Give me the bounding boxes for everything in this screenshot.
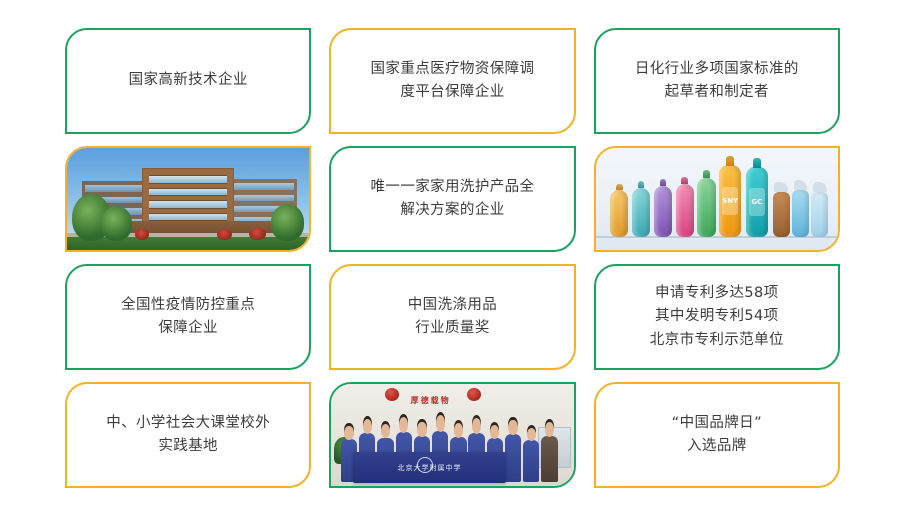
card-text: 中、小学社会大课堂校外 实践基地 xyxy=(96,408,280,463)
students-group-image: 厚德载物 北京大学附属中学 xyxy=(331,384,573,486)
card-text: 国家高新技术企业 xyxy=(119,65,258,96)
bottle-brand-label: GC xyxy=(749,188,765,216)
flower-bush xyxy=(135,229,150,240)
bottle-brand-label: SNY xyxy=(722,187,738,216)
spray-bottle xyxy=(792,190,809,237)
card-high-tech-enterprise[interactable]: 国家高新技术企业 xyxy=(65,28,311,134)
card-national-standards-drafter[interactable]: 日化行业多项国家标准的 起草者和制定者 xyxy=(594,28,840,134)
product-bottle xyxy=(632,188,650,237)
school-banner-text: 北京大学附属中学 xyxy=(353,452,506,483)
wall-banner-text: 厚德载物 xyxy=(394,395,467,406)
product-bottle-sny: SNY xyxy=(719,165,741,236)
product-bottle xyxy=(676,184,694,237)
card-detergent-quality-award[interactable]: 中国洗涤用品 行业质量奖 xyxy=(329,264,575,370)
product-bottle xyxy=(654,186,672,237)
tree xyxy=(271,204,305,241)
tree xyxy=(101,206,133,241)
product-bottles-image: SNY GC xyxy=(596,148,838,250)
product-bottle xyxy=(697,178,715,237)
card-medical-supply-platform[interactable]: 国家重点医疗物资保障调 度平台保障企业 xyxy=(329,28,575,134)
card-text: 唯一一家家用洗护产品全 解决方案的企业 xyxy=(361,172,545,227)
card-epidemic-prevention-key-enterprise[interactable]: 全国性疫情防控重点 保障企业 xyxy=(65,264,311,370)
credential-card-grid: 国家高新技术企业 国家重点医疗物资保障调 度平台保障企业 日化行业多项国家标准的… xyxy=(0,0,900,510)
flower-bush xyxy=(249,228,266,240)
card-full-solution-enterprise[interactable]: 唯一一家家用洗护产品全 解决方案的企业 xyxy=(329,146,575,252)
card-china-brand-day[interactable]: “中国品牌日” 入选品牌 xyxy=(594,382,840,488)
spray-bottle xyxy=(773,192,790,237)
headquarters-building-image xyxy=(67,148,309,250)
flower-bush xyxy=(217,229,232,240)
card-text: “中国品牌日” 入选品牌 xyxy=(662,408,772,463)
card-text: 中国洗涤用品 行业质量奖 xyxy=(398,290,507,345)
lawn-strip xyxy=(67,237,309,250)
card-school-practice-base[interactable]: 中、小学社会大课堂校外 实践基地 xyxy=(65,382,311,488)
card-patents[interactable]: 申请专利多达58项 其中发明专利54项 北京市专利示范单位 xyxy=(594,264,840,370)
card-text: 申请专利多达58项 其中发明专利54项 北京市专利示范单位 xyxy=(640,278,794,356)
card-students-visit-photo[interactable]: 厚德载物 北京大学附属中学 xyxy=(329,382,575,488)
product-bottle-gc: GC xyxy=(746,167,768,236)
product-bottle xyxy=(610,190,628,237)
card-text: 全国性疫情防控重点 保障企业 xyxy=(111,290,265,345)
card-product-lineup-photo[interactable]: SNY GC xyxy=(594,146,840,252)
card-text: 日化行业多项国家标准的 起草者和制定者 xyxy=(625,54,809,109)
card-headquarters-building-photo[interactable] xyxy=(65,146,311,252)
school-banner: 北京大学附属中学 xyxy=(353,452,506,483)
card-text: 国家重点医疗物资保障调 度平台保障企业 xyxy=(361,54,545,109)
spray-bottle xyxy=(811,192,828,237)
